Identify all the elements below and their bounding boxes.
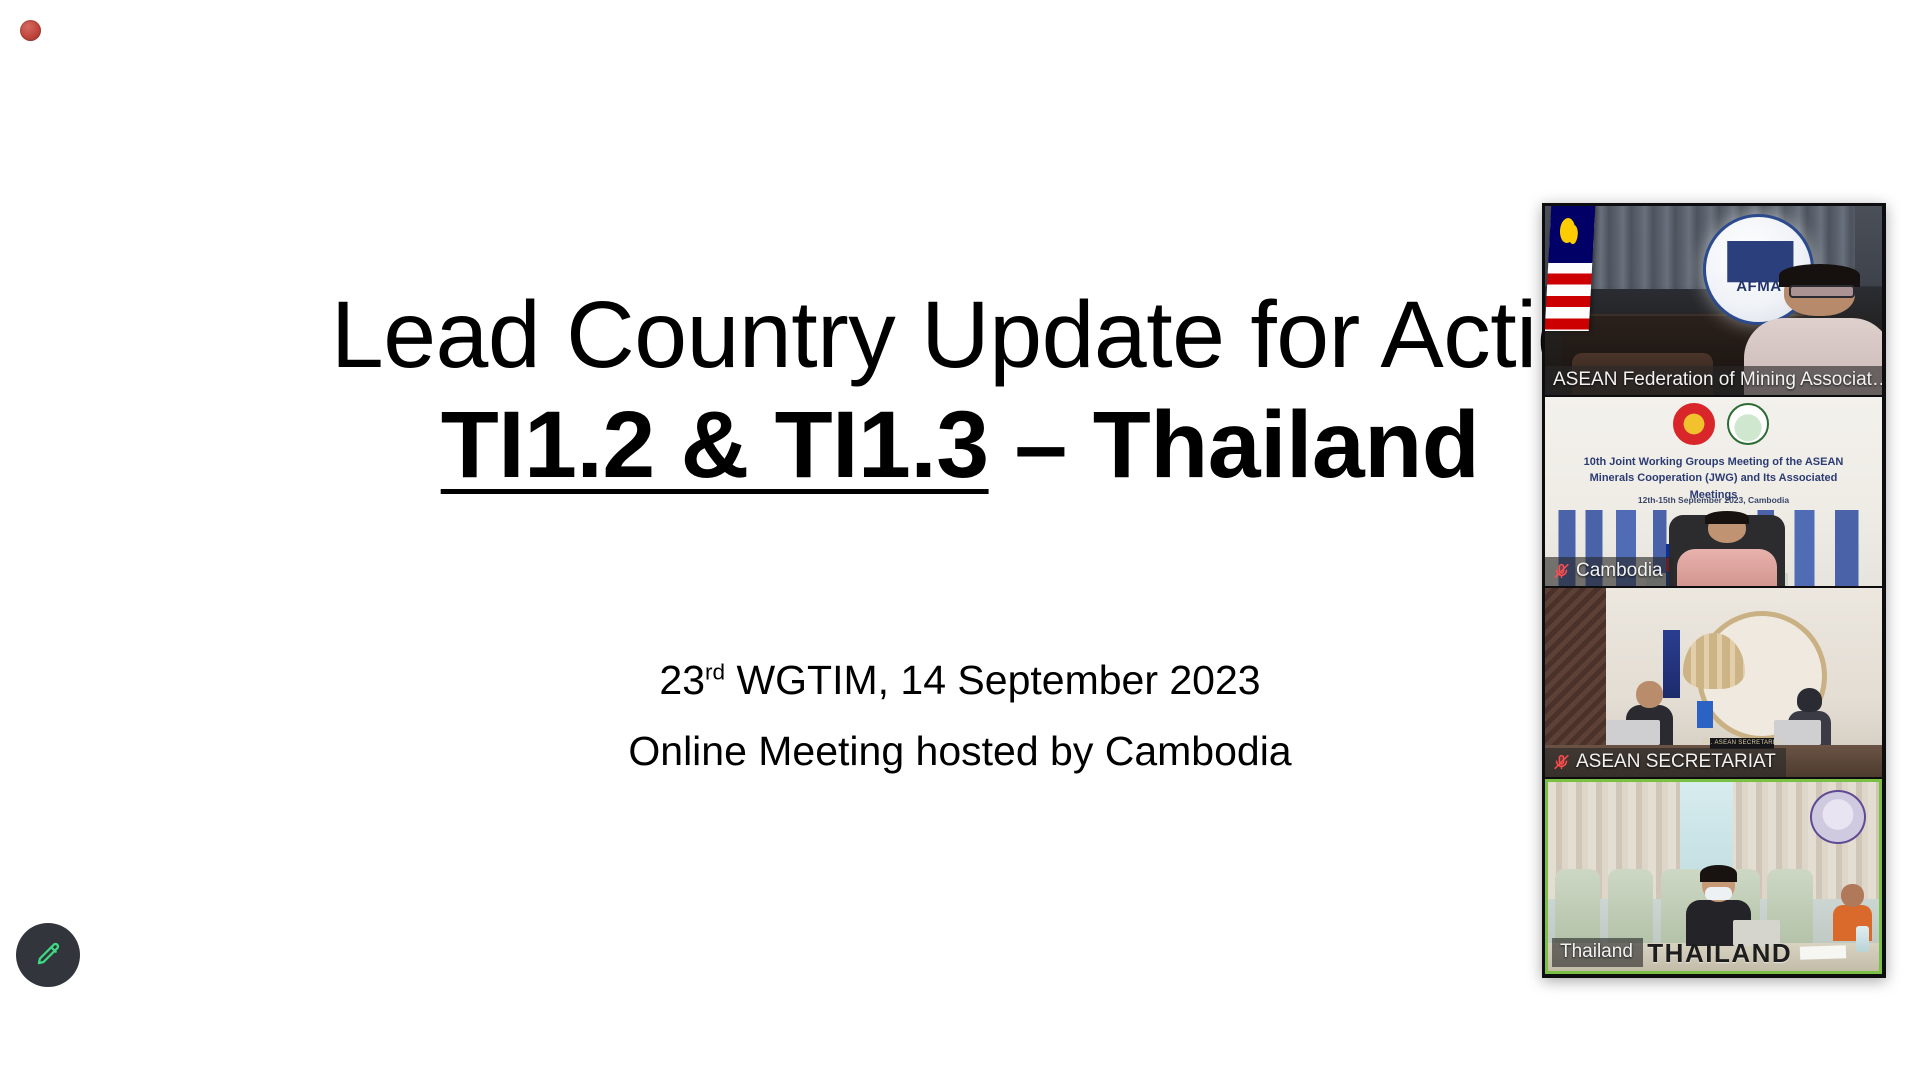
video-caption: THAILAND bbox=[1647, 938, 1792, 969]
table-flag-icon bbox=[1697, 701, 1714, 727]
subtitle-line-1-rest: WGTIM, 14 September 2023 bbox=[725, 657, 1261, 703]
slide-title-line-1: Lead Country Update for Actio bbox=[331, 282, 1589, 388]
thailand-department-logo-icon bbox=[1810, 790, 1866, 844]
screen-share-root: Lead Country Update for Actio TI1.2 & TI… bbox=[0, 0, 1920, 1080]
participant-figure bbox=[1687, 503, 1768, 586]
participant-name-chip: ASEAN SECRETARIAT bbox=[1545, 748, 1786, 777]
participant-name: Thailand bbox=[1560, 941, 1633, 963]
participant-name-chip: Thailand bbox=[1552, 938, 1643, 967]
annotate-button[interactable] bbox=[16, 923, 80, 987]
water-bottle-icon bbox=[1856, 926, 1869, 952]
participant-name: ASEAN Federation of Mining Associat… bbox=[1553, 369, 1882, 391]
participant-name: ASEAN SECRETARIAT bbox=[1576, 751, 1776, 773]
paper-icon bbox=[1799, 946, 1846, 961]
asean-emblems-icon bbox=[1673, 403, 1769, 445]
participant-name: Cambodia bbox=[1576, 560, 1663, 582]
slide-title-underlined-part: TI1.2 & TI1.3 bbox=[441, 392, 989, 498]
slide-title-line-2-rest: – Thailand bbox=[989, 392, 1480, 498]
video-tile[interactable]: ███ AFMA ASEAN Federation of Mining Asso… bbox=[1545, 206, 1882, 395]
participant-name-chip: ASEAN Federation of Mining Associat… bbox=[1545, 366, 1882, 395]
video-tile[interactable]: DR. ASEAN SECRETARIAT ASEAN SECRETARIAT bbox=[1545, 588, 1882, 777]
subtitle-ordinal-suffix: rd bbox=[705, 659, 725, 684]
video-panel[interactable]: ███ AFMA ASEAN Federation of Mining Asso… bbox=[1542, 203, 1886, 978]
microphone-muted-icon bbox=[1553, 752, 1570, 772]
close-icon[interactable] bbox=[20, 20, 41, 41]
video-tile[interactable]: 10th Joint Working Groups Meeting of the… bbox=[1545, 397, 1882, 586]
subtitle-ordinal-number: 23 bbox=[659, 657, 705, 703]
participant-name-chip: Cambodia bbox=[1545, 557, 1673, 586]
malaysia-flag-icon bbox=[1545, 206, 1595, 331]
microphone-muted-icon bbox=[1553, 561, 1570, 581]
nameplate: DR. ASEAN SECRETARIAT bbox=[1710, 738, 1774, 748]
laptop-icon bbox=[1606, 720, 1660, 745]
pencil-icon bbox=[33, 940, 63, 970]
video-tile-active-speaker[interactable]: THAILAND Thailand bbox=[1545, 779, 1882, 974]
